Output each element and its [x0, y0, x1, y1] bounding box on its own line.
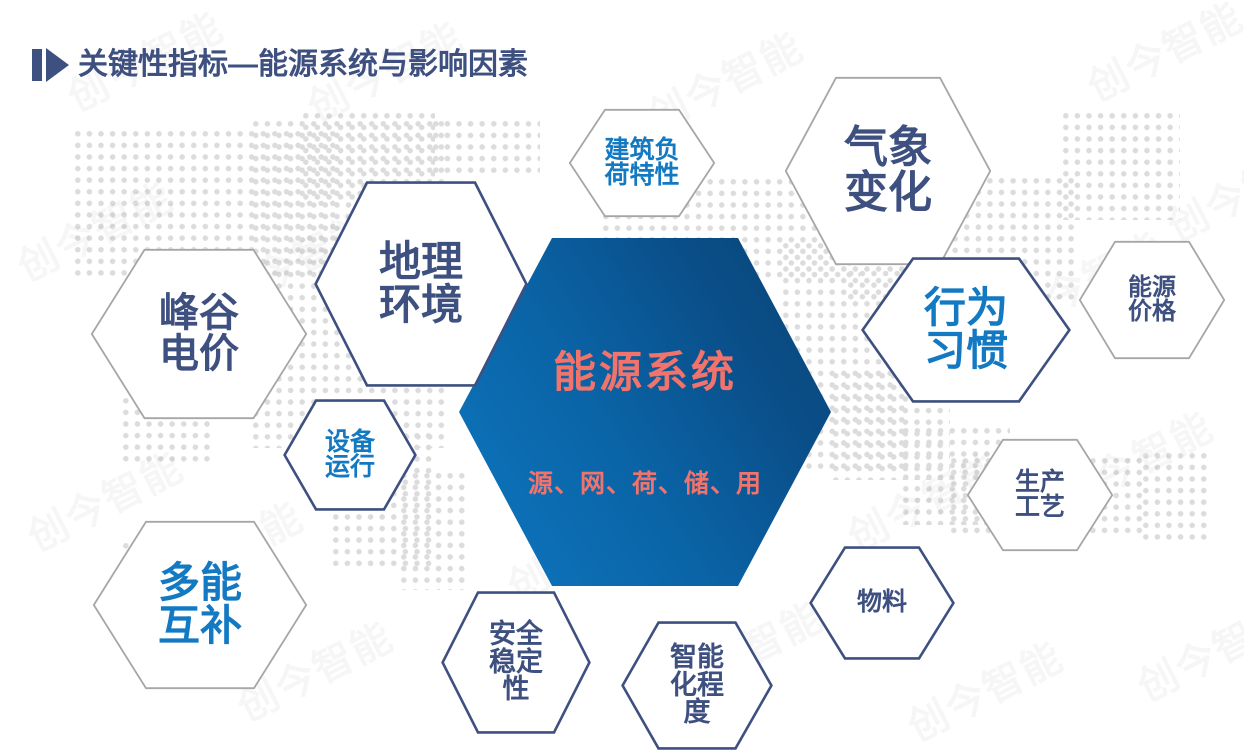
- hex-wuliao[interactable]: 物料: [808, 545, 956, 661]
- hexagon-shape: [860, 256, 1072, 404]
- dot-pattern-decoration: [430, 118, 540, 178]
- hexagon-shape: [282, 398, 418, 512]
- center-hexagon-subtitle: 源、网、荷、储、用: [528, 464, 762, 500]
- hexagon-shape: [313, 180, 529, 388]
- hex-qixiang-bianhua[interactable]: 气象 变化: [784, 76, 992, 266]
- brand-watermark: 创今智能: [1126, 585, 1244, 713]
- hex-shengchan-gongyi[interactable]: 生产 工艺: [966, 438, 1114, 552]
- hexagon-shape: [90, 248, 308, 420]
- hexagon-shape: [620, 620, 774, 751]
- hex-anquan-wendingxing[interactable]: 安全 稳定 性: [440, 590, 592, 735]
- hexagon-shape: [568, 108, 716, 218]
- hex-zhineng-huachengdu[interactable]: 智能 化程 度: [620, 620, 774, 751]
- hex-jianzhu-fuhe[interactable]: 建筑负 荷特性: [568, 108, 716, 218]
- page-title-text: 关键性指标—能源系统与影响因素: [78, 50, 528, 80]
- hex-xingwei-xiguan[interactable]: 行为 习惯: [860, 256, 1072, 404]
- hexagon-shape: [808, 545, 956, 661]
- brand-watermark: 创今智能: [1156, 125, 1244, 253]
- dot-pattern-decoration: [1140, 450, 1210, 540]
- dot-pattern-decoration: [1060, 110, 1180, 220]
- bar-triangle-icon: [32, 48, 69, 82]
- brand-watermark: 创今智能: [1076, 0, 1244, 113]
- hex-dili-huanjing[interactable]: 地理 环境: [313, 180, 529, 388]
- hex-duoneng-hubu[interactable]: 多能 互补: [92, 520, 308, 690]
- hexagon-shape: [92, 520, 308, 690]
- center-hexagon-title: 能源系统: [553, 338, 737, 400]
- hex-fenggu-dianjia[interactable]: 峰谷 电价: [90, 248, 308, 420]
- hex-nengyuan-jiage[interactable]: 能源 价格: [1078, 240, 1226, 360]
- hexagon-shape: [440, 590, 592, 735]
- page-title: 关键性指标—能源系统与影响因素: [32, 48, 528, 82]
- hexagon-shape: [784, 76, 992, 266]
- hexagon-shape: [1078, 240, 1226, 360]
- hex-shebei-yunxing[interactable]: 设备 运行: [282, 398, 418, 512]
- hexagon-shape: [966, 438, 1114, 552]
